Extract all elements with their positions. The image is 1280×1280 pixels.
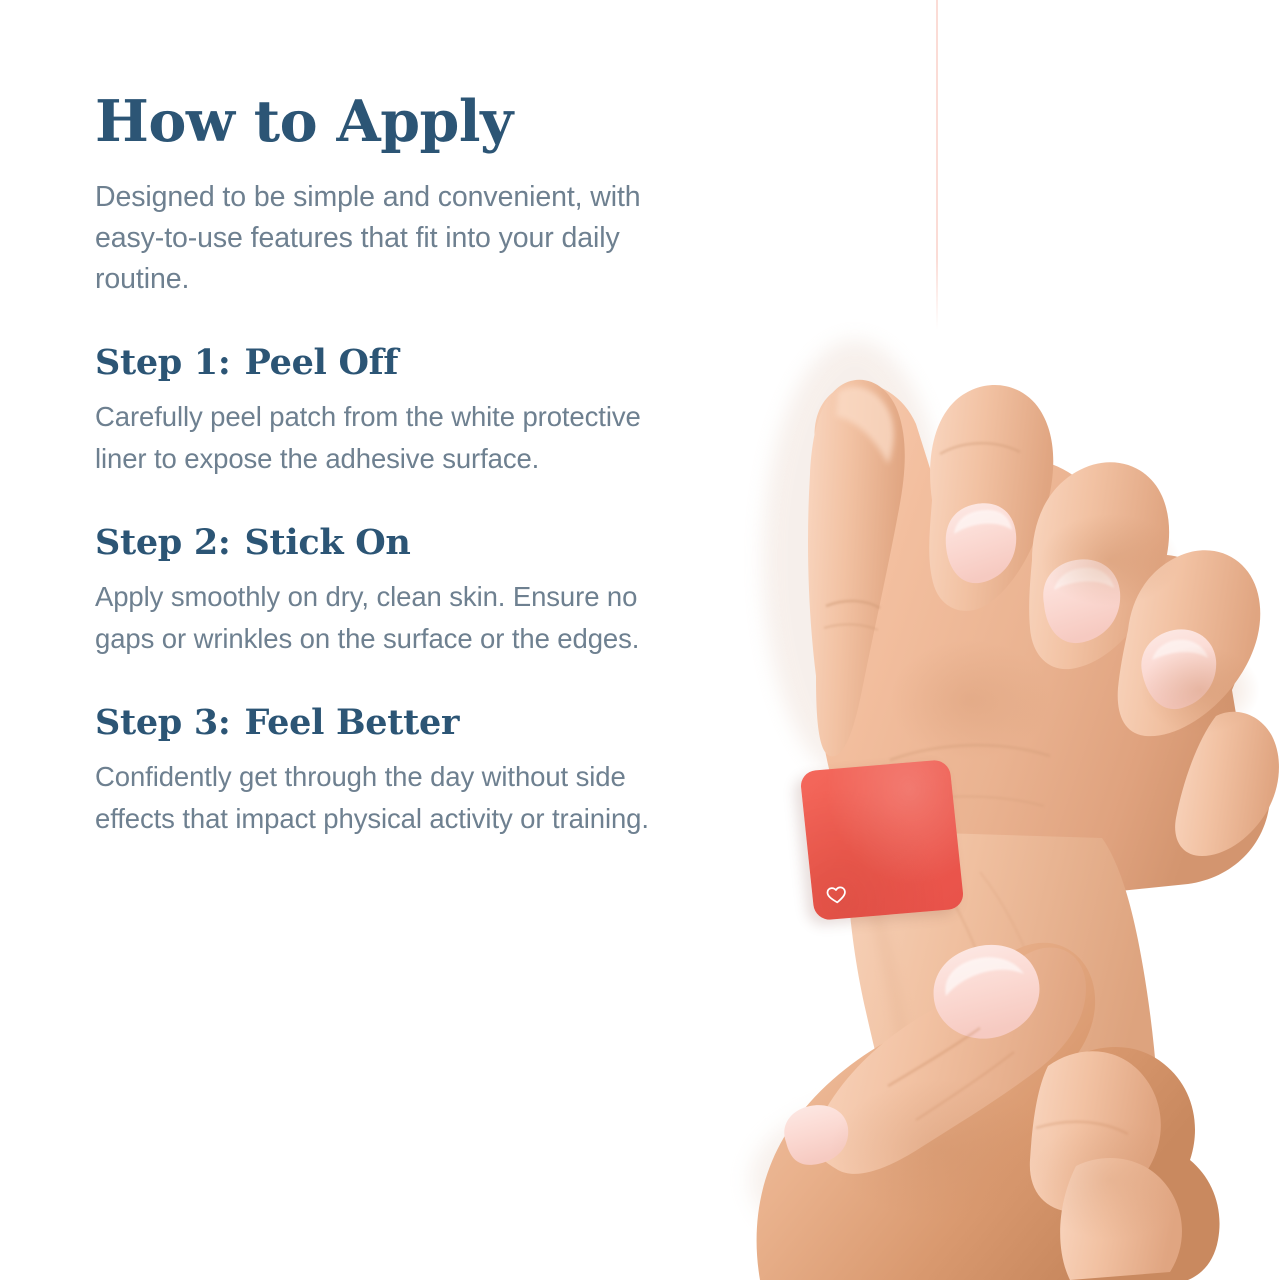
- step-2-label: Step 2:: [95, 522, 231, 563]
- step-3-label: Step 3:: [95, 702, 231, 743]
- copy-column: How to Apply Designed to be simple and c…: [95, 92, 715, 840]
- step-2-body: Apply smoothly on dry, clean skin. Ensur…: [95, 576, 695, 660]
- applying-hand-icon: [750, 943, 1220, 1280]
- step-3-body: Confidently get through the day without …: [95, 756, 695, 840]
- intro-paragraph: Designed to be simple and convenient, wi…: [95, 177, 715, 299]
- infographic-canvas: How to Apply Designed to be simple and c…: [0, 0, 1280, 1280]
- page-title: How to Apply: [95, 92, 715, 151]
- step-3-heading: Step 3:Feel Better: [95, 704, 715, 743]
- hands-illustration: [640, 0, 1280, 1280]
- step-1-name: Peel Off: [245, 342, 399, 383]
- patch-surface: [799, 759, 964, 921]
- step-2: Step 2:Stick On Apply smoothly on dry, c…: [95, 524, 715, 660]
- step-3: Step 3:Feel Better Confidently get throu…: [95, 704, 715, 840]
- heart-logo-icon: [824, 884, 848, 906]
- adhesive-patch: [795, 765, 975, 925]
- step-1-heading: Step 1:Peel Off: [95, 344, 715, 383]
- step-1-label: Step 1:: [95, 342, 231, 383]
- step-3-name: Feel Better: [245, 702, 460, 743]
- step-1: Step 1:Peel Off Carefully peel patch fro…: [95, 344, 715, 480]
- patch-sheen: [799, 759, 964, 921]
- step-1-body: Carefully peel patch from the white prot…: [95, 396, 695, 480]
- step-2-heading: Step 2:Stick On: [95, 524, 715, 563]
- step-2-name: Stick On: [245, 522, 411, 563]
